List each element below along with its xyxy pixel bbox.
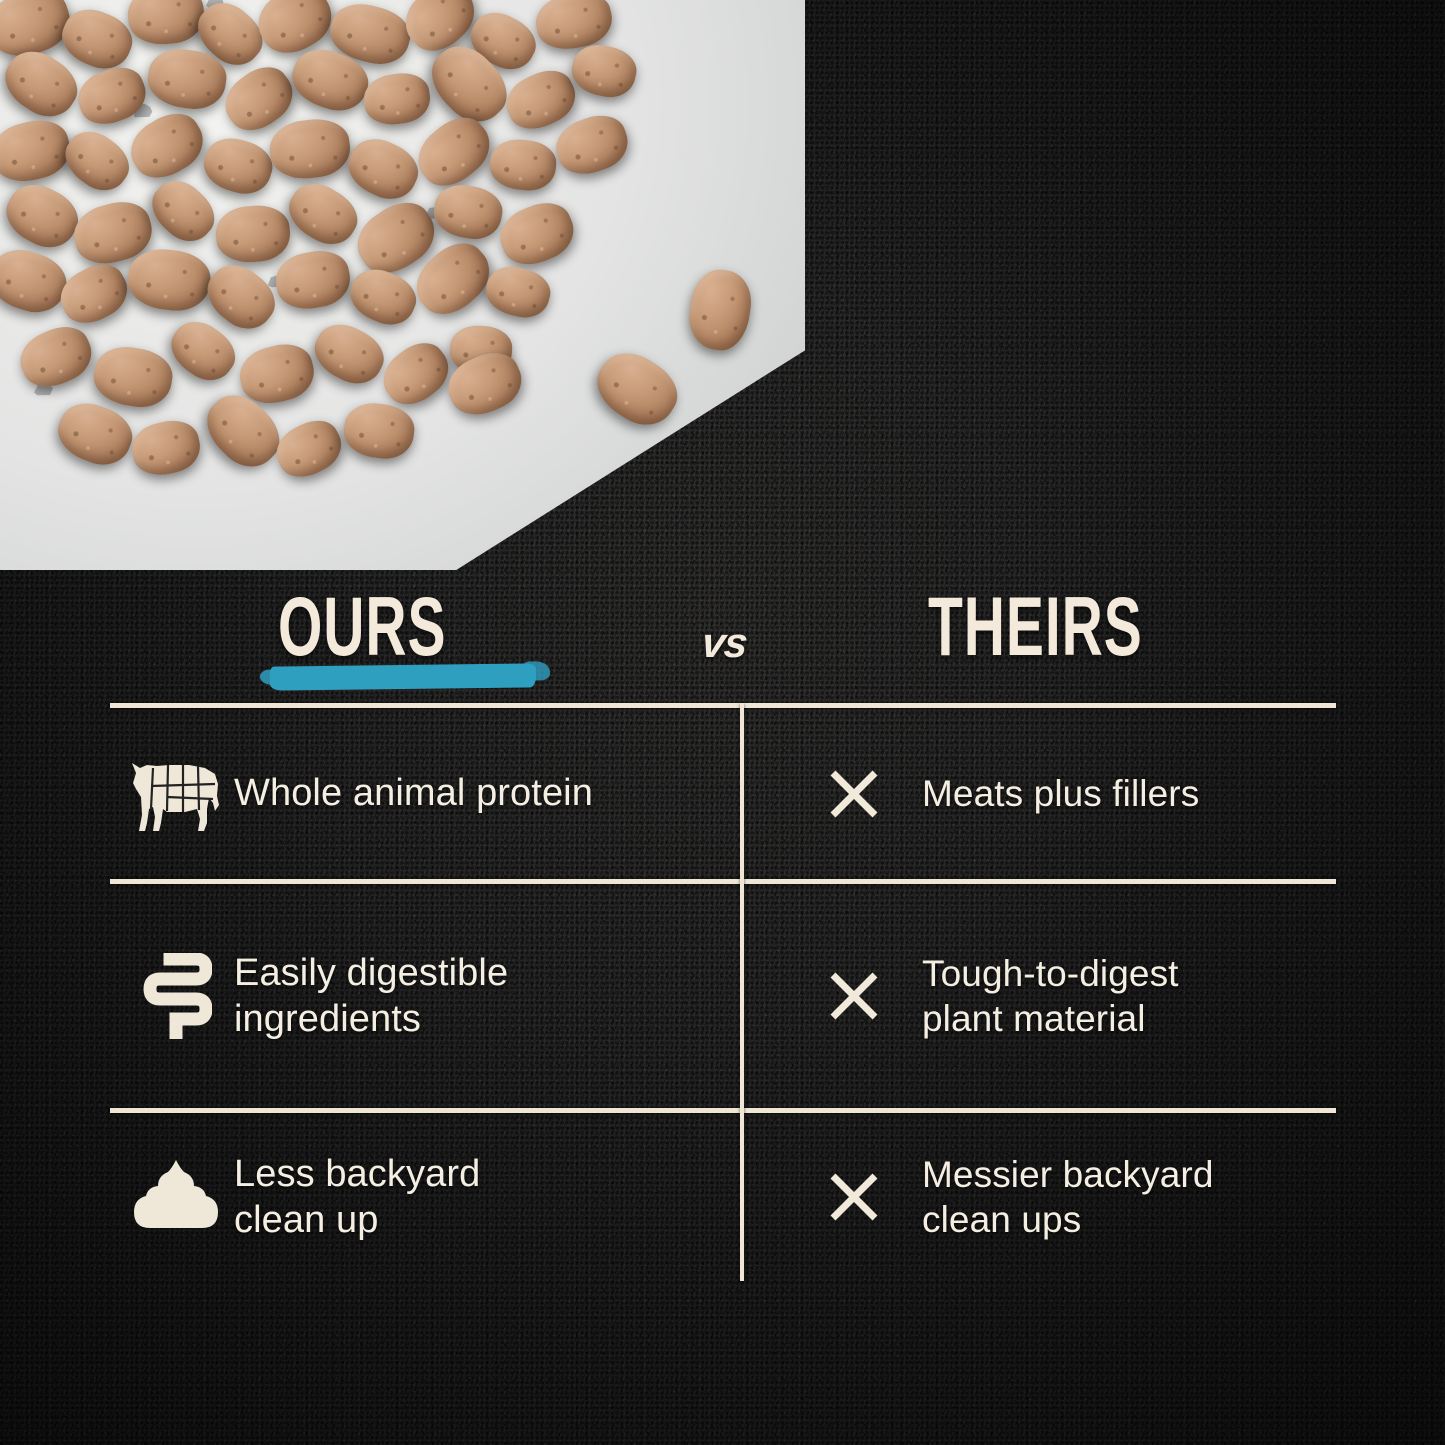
ours-vs-theirs-comparison: OURS vs THEIRS [0,0,1445,1445]
x-mark-icon [826,1169,922,1225]
intestine-digestion-icon [118,953,234,1039]
cell-ours: Whole animal protein [110,708,740,879]
heading-vs: vs [699,619,749,667]
cell-ours: Less backyard clean up [110,1113,740,1281]
cell-theirs: Tough-to-digest plant material [740,884,1336,1108]
cell-label: Easily digestible ingredients [234,950,508,1043]
table-row: Easily digestible ingredients Tough-to-d… [110,884,1336,1108]
cell-label: Tough-to-digest plant material [922,951,1179,1041]
cell-label: Whole animal protein [234,770,593,816]
heading-theirs: THEIRS [928,579,1143,675]
cell-label: Meats plus fillers [922,771,1199,816]
cow-butcher-chart-icon [118,751,234,837]
cell-theirs: Meats plus fillers [740,708,1336,879]
heading-ours: OURS [278,579,446,675]
cell-ours: Easily digestible ingredients [110,884,740,1108]
infographic-canvas: OURS vs THEIRS [0,0,1445,1445]
cell-label: Messier backyard clean ups [922,1152,1214,1242]
cell-theirs: Messier backyard clean ups [740,1113,1336,1281]
cell-label: Less backyard clean up [234,1151,480,1244]
table-row: Whole animal protein Meats plus fillers [110,708,1336,879]
comparison-headings: OURS vs THEIRS [110,575,1336,695]
poop-pile-icon [118,1156,234,1238]
x-mark-icon [826,968,922,1024]
x-mark-icon [826,766,922,822]
table-row: Less backyard clean up Messier backyard … [110,1113,1336,1281]
